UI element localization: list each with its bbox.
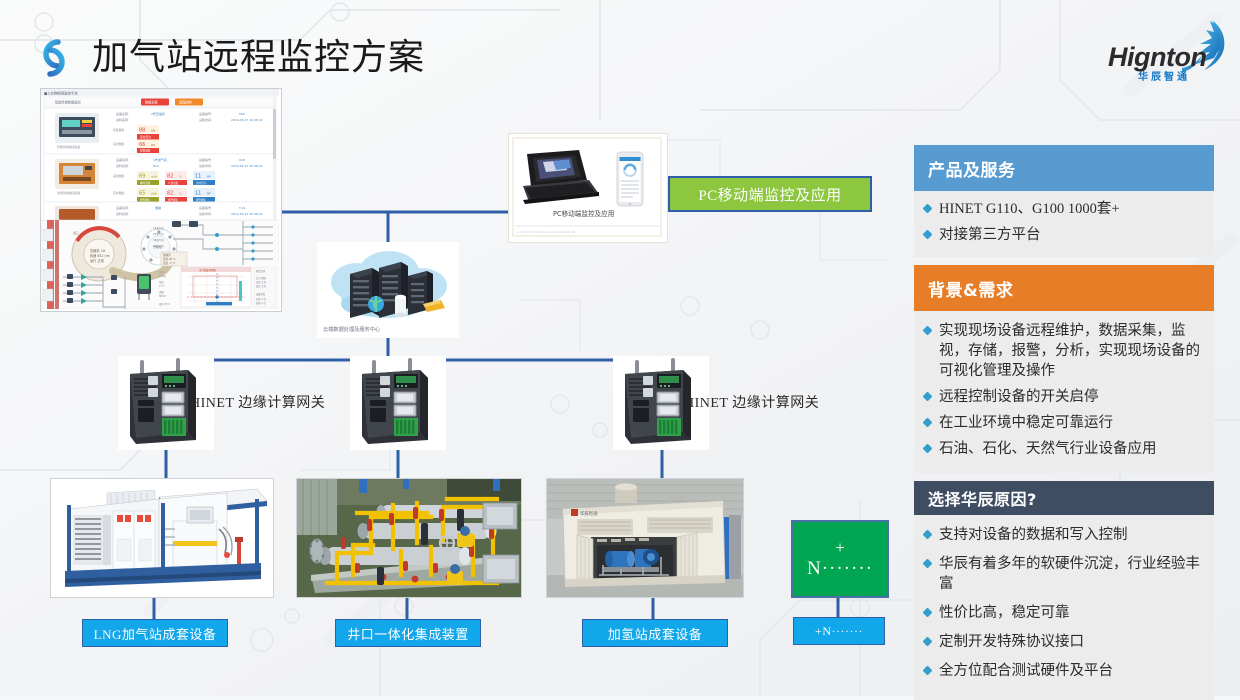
svg-text:002: 002 [239, 112, 245, 116]
svg-text:压力温度趋势图: 压力温度趋势图 [199, 268, 216, 272]
card-why-body: 支持对设备的数据和写入控制 华辰有着多年的软硬件沉淀，行业经验丰富 性价比高，稳… [914, 515, 1214, 700]
svg-text:流量: 流量 [159, 290, 164, 294]
card-products-body: HINET G110、G100 1000套+ 对接第三方平台 [914, 191, 1214, 257]
svg-text:Null: Null [153, 164, 159, 168]
svg-text:69: 69 [139, 174, 145, 180]
svg-text:实时压力: 实时压力 [140, 135, 151, 139]
list-item-text: 远程控制设备的开关启停 [939, 387, 1202, 407]
diamond-bullet-icon [923, 204, 933, 214]
svg-text:℃: ℃ [179, 193, 182, 196]
svg-text:88m3: 88m3 [159, 295, 166, 298]
scada-monitoring-dashboard-screenshot: ■工业物联网监控平台 智能终端数据监测 数据采集 远程控制 智能终端数据采集器 … [40, 88, 282, 312]
pc-mobile-chip[interactable]: PC移动端监控及应用 [668, 176, 872, 212]
svg-text:设备编号:: 设备编号: [199, 157, 212, 162]
svg-text:kPa: kPa [151, 130, 156, 133]
svg-text:设备名称:: 设备名称: [116, 205, 129, 210]
list-item: 华辰有着多年的软硬件沉淀，行业经验丰富 [924, 554, 1202, 594]
list-item: 定制开发特殊协议接口 [924, 632, 1202, 652]
list-item-text: 对接第三方平台 [939, 225, 1202, 245]
svg-text:储罐区: 储罐区 [163, 253, 171, 257]
svg-text:MP: MP [207, 193, 211, 196]
diamond-bullet-icon [923, 608, 933, 618]
list-item-text: 实现现场设备远程维护，数据采集，监视，存储，报警，分析，实现现场设备的可视化管理… [939, 321, 1202, 381]
svg-text:T-01: T-01 [238, 206, 246, 210]
svg-text:设备名称:: 设备名称: [116, 111, 129, 116]
svg-text:7.2kg: 7.2kg [159, 275, 166, 278]
svg-text:66: 66 [139, 142, 145, 148]
list-item-text: HINET G110、G100 1000套+ [939, 199, 1202, 219]
diamond-bullet-icon [923, 326, 933, 336]
diamond-bullet-icon [923, 392, 933, 402]
svg-text:2019-03-17 10:28:41: 2019-03-17 10:28:41 [231, 118, 263, 122]
lng-station-equipment-photo [50, 478, 274, 598]
list-item: 在工业环境中稳定可靠运行 [924, 413, 1202, 433]
svg-text:液位 65%: 液位 65% [159, 302, 171, 306]
svg-text:2019-03-17 10:28:41: 2019-03-17 10:28:41 [231, 212, 263, 216]
svg-text:资料名称:: 资料名称: [116, 211, 129, 216]
svg-text:设备状态: 设备状态 [256, 292, 266, 296]
svg-text:压力 超限: 压力 超限 [256, 276, 267, 280]
svg-text:氢能装备: 氢能装备 [667, 494, 687, 501]
svg-text:智能终端数据采集器: 智能终端数据采集器 [57, 191, 81, 195]
svg-text:1号加气机: 1号加气机 [153, 157, 167, 162]
plus-symbol: + [835, 541, 845, 555]
hinet-gateway-device-2 [350, 356, 446, 450]
svg-text:11: 11 [195, 174, 201, 180]
pc-mobile-caption: PC移动端监控及应用 [553, 209, 614, 218]
svg-text:65: 65 [139, 191, 145, 197]
svg-text:m3/h: m3/h [151, 176, 157, 179]
list-item-text: 性价比高，稳定可靠 [939, 603, 1202, 623]
svg-text:温度 -2 ℃: 温度 -2 ℃ [163, 261, 175, 265]
diamond-bullet-icon [923, 418, 933, 428]
svg-text:报警记录: 报警记录 [256, 269, 266, 273]
list-item-text: 全方位配合测试硬件及平台 [939, 661, 1202, 681]
diamond-bullet-icon [923, 230, 933, 240]
svg-text:2#加气机: 2#加气机 [153, 232, 164, 236]
svg-text:报警阈值: 报警阈值 [196, 197, 206, 201]
card-why-title: 选择华辰原因? [914, 481, 1214, 515]
list-item-text: 定制开发特殊协议接口 [939, 632, 1202, 652]
svg-text:压缩机 1#: 压缩机 1# [90, 248, 106, 253]
svg-text:液位 正常: 液位 正常 [256, 284, 267, 288]
list-item: 支持对设备的数据和写入控制 [924, 525, 1202, 545]
svg-text:远程控制: 远程控制 [179, 100, 192, 105]
card-background-title: 背景&需求 [914, 265, 1214, 311]
svg-text:报警阈值: 报警阈值 [140, 149, 151, 153]
svg-text:运行 正常: 运行 正常 [90, 258, 104, 263]
svg-text:实时数据:: 实时数据: [113, 191, 125, 195]
hydrogen-station-container-photo: 华辰智通 氢能装备 [546, 478, 744, 598]
diamond-bullet-icon [923, 637, 933, 647]
svg-text:数据采集: 数据采集 [145, 100, 159, 105]
right-info-column: 产品及服务 HINET G110、G100 1000套+ 对接第三方平台 背景&… [914, 145, 1214, 700]
list-item: 实现现场设备远程维护，数据采集，监视，存储，报警，分析，实现现场设备的可视化管理… [924, 321, 1202, 381]
list-item-text: 石油、石化、天然气行业设备应用 [939, 439, 1202, 459]
svg-text:2019-03-17 10:28:41: 2019-03-17 10:28:41 [231, 164, 263, 168]
card-background-requirements: 背景&需求 实现现场设备远程维护，数据采集，监视，存储，报警，分析，实现现场设备… [914, 265, 1214, 473]
cloud-data-center-image: 云端数据处理及服务中心 [317, 242, 459, 338]
list-item: HINET G110、G100 1000套+ [924, 199, 1202, 219]
brand-chinese-name: 华辰智通 [1138, 68, 1190, 83]
diamond-bullet-icon [923, 530, 933, 540]
svg-text:采集时间:: 采集时间: [199, 163, 212, 168]
card-why-choose-us: 选择华辰原因? 支持对设备的数据和写入控制 华辰有着多年的软硬件沉淀，行业经验丰… [914, 481, 1214, 700]
diamond-bullet-icon [923, 559, 933, 569]
brand-logo: Hignton 华辰智通 [1108, 22, 1228, 84]
diamond-bullet-icon [923, 666, 933, 676]
list-item-text: 在工业环境中稳定可靠运行 [939, 413, 1202, 433]
svg-text:82: 82 [167, 191, 173, 197]
card-products-title: 产品及服务 [914, 145, 1214, 191]
svg-text:资料名称:: 资料名称: [116, 163, 129, 168]
interlocking-circles-logo-icon [28, 32, 80, 84]
svg-text:温度 正常: 温度 正常 [256, 280, 267, 284]
caption-hydrogen-equipment[interactable]: 加氢站成套设备 [582, 619, 728, 647]
svg-text:m3/h: m3/h [151, 193, 157, 196]
svg-text:采集数据:: 采集数据: [113, 128, 125, 132]
n-placeholder-label: N······· [807, 560, 873, 578]
svg-text:报警阈值: 报警阈值 [140, 197, 150, 201]
list-item: 远程控制设备的开关启停 [924, 387, 1202, 407]
card-background-body: 实现现场设备远程维护，数据采集，监视，存储，报警，分析，实现现场设备的可视化管理… [914, 311, 1214, 473]
list-item: 石油、石化、天然气行业设备应用 [924, 439, 1202, 459]
caption-wellhead-equipment[interactable]: 井口一体化集成装置 [335, 619, 481, 647]
more-equipment-placeholder[interactable]: + N······· [791, 520, 889, 598]
svg-text:采集时间:: 采集时间: [199, 117, 212, 122]
svg-text:88: 88 [139, 128, 145, 134]
svg-text:4#加气机: 4#加气机 [153, 244, 164, 248]
wellhead-integrated-skid-photo [296, 478, 522, 598]
gateway-label-left: HINET 边缘计算网关 [190, 392, 325, 412]
page-title: 加气站远程监控方案 [92, 28, 425, 80]
svg-text:资料名称:: 资料名称: [116, 117, 129, 122]
svg-text:设备编号:: 设备编号: [199, 111, 212, 116]
svg-text:设备名称:: 设备名称: [116, 157, 129, 162]
list-item: 全方位配合测试硬件及平台 [924, 661, 1202, 681]
list-item-text: 华辰有着多年的软硬件沉淀，行业经验丰富 [939, 554, 1202, 594]
svg-text:MP: MP [207, 176, 211, 179]
gateway-label-right: HINET 边缘计算网关 [684, 392, 819, 412]
svg-text:11: 11 [195, 191, 201, 197]
svg-text:液位 65 %: 液位 65 % [163, 257, 176, 261]
svg-text:出口: 出口 [112, 231, 118, 235]
list-item: 对接第三方平台 [924, 225, 1202, 245]
svg-text:2号压缩机: 2号压缩机 [151, 111, 165, 116]
svg-text:在线 3 台: 在线 3 台 [256, 297, 267, 301]
svg-text:kPa: kPa [151, 144, 156, 147]
svg-text:1#加气机: 1#加气机 [153, 226, 164, 230]
svg-text:转速 852 r/m: 转速 852 r/m [90, 253, 110, 258]
svg-text:介质温度: 介质温度 [168, 181, 179, 185]
page-header: 加气站远程监控方案 Hignton 华辰智通 [0, 0, 1240, 92]
svg-text:℃: ℃ [179, 176, 182, 179]
list-item: 性价比高，稳定可靠 [924, 603, 1202, 623]
diamond-bullet-icon [923, 444, 933, 454]
svg-text:报警阈值: 报警阈值 [168, 197, 178, 201]
svg-text:温度: 温度 [159, 280, 164, 284]
svg-text:018: 018 [239, 158, 245, 162]
svg-text:瞬时流量: 瞬时流量 [140, 181, 151, 185]
svg-text:27℃: 27℃ [159, 285, 165, 288]
svg-text:云端数据处理及服务中心: 云端数据处理及服务中心 [323, 325, 380, 333]
svg-text:压力: 压力 [159, 270, 164, 274]
svg-text:设备编号:: 设备编号: [199, 205, 212, 210]
svg-text:进口: 进口 [73, 231, 79, 235]
svg-text:华辰智通: 华辰智通 [580, 510, 598, 517]
svg-text:智能终端数据采集器: 智能终端数据采集器 [57, 145, 81, 149]
caption-more-equipment[interactable]: +N······· [793, 617, 885, 645]
svg-text:采集时间:: 采集时间: [199, 211, 212, 216]
svg-text:采集数据:: 采集数据: [113, 174, 125, 178]
svg-text:智能终端数据监测: 智能终端数据监测 [55, 100, 81, 105]
svg-text:实时数据:: 实时数据: [113, 142, 125, 146]
svg-text:离线 0 台: 离线 0 台 [256, 301, 267, 305]
svg-text:3#加气机: 3#加气机 [153, 238, 164, 242]
svg-text:实时压力: 实时压力 [196, 181, 207, 185]
svg-text:储罐: 储罐 [155, 205, 161, 210]
caption-lng-equipment[interactable]: LNG加气站成套设备 [82, 619, 228, 647]
pc-mobile-monitoring-image: PC移动端监控及应用 1 2 3 4 5 6 7 8 9 10 11 12 13… [508, 133, 668, 243]
svg-text:82: 82 [167, 174, 173, 180]
list-item-text: 支持对设备的数据和写入控制 [939, 525, 1202, 545]
card-products-services: 产品及服务 HINET G110、G100 1000套+ 对接第三方平台 [914, 145, 1214, 257]
svg-text:1 2 3 4 5 6 7 8 9 10: 1 2 3 4 5 6 7 8 9 10 11 12 13 14 15 16 [517, 230, 575, 234]
